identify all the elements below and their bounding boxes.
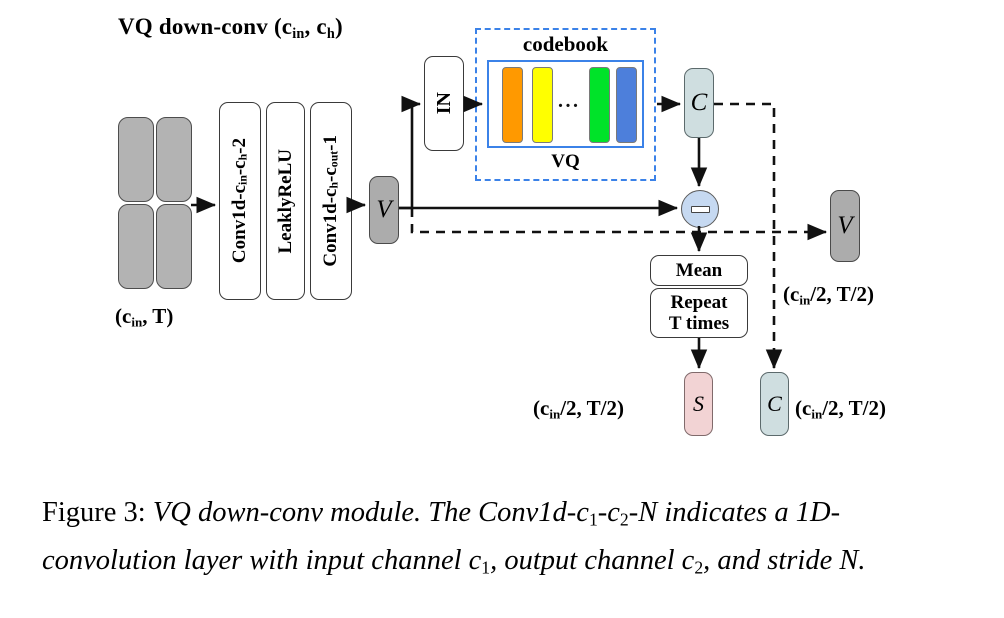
caption-body-5: , and stride N.: [703, 545, 865, 576]
figure-caption: Figure 3: VQ down-conv module. The Conv1…: [42, 492, 947, 589]
figure-vq-down-conv: VQ down-conv (cin, ch) (cin, T) Conv1d-c…: [0, 0, 1004, 618]
caption-head: Figure 3:: [42, 497, 146, 528]
caption-sub-1: 1: [589, 509, 598, 529]
caption-sub-3: 1: [481, 558, 490, 578]
caption-body-4: , output channel c: [490, 545, 694, 576]
caption-sub-2: 2: [620, 509, 629, 529]
wire-c-to-cbottom: [714, 104, 774, 368]
caption-body-1: VQ down-conv module. The Conv1d-c: [146, 497, 589, 528]
caption-sub-4: 2: [694, 558, 703, 578]
wire-v-to-in: [399, 104, 420, 208]
caption-body-2: -c: [598, 497, 620, 528]
wire-skip-v-to-vright: [412, 208, 826, 232]
